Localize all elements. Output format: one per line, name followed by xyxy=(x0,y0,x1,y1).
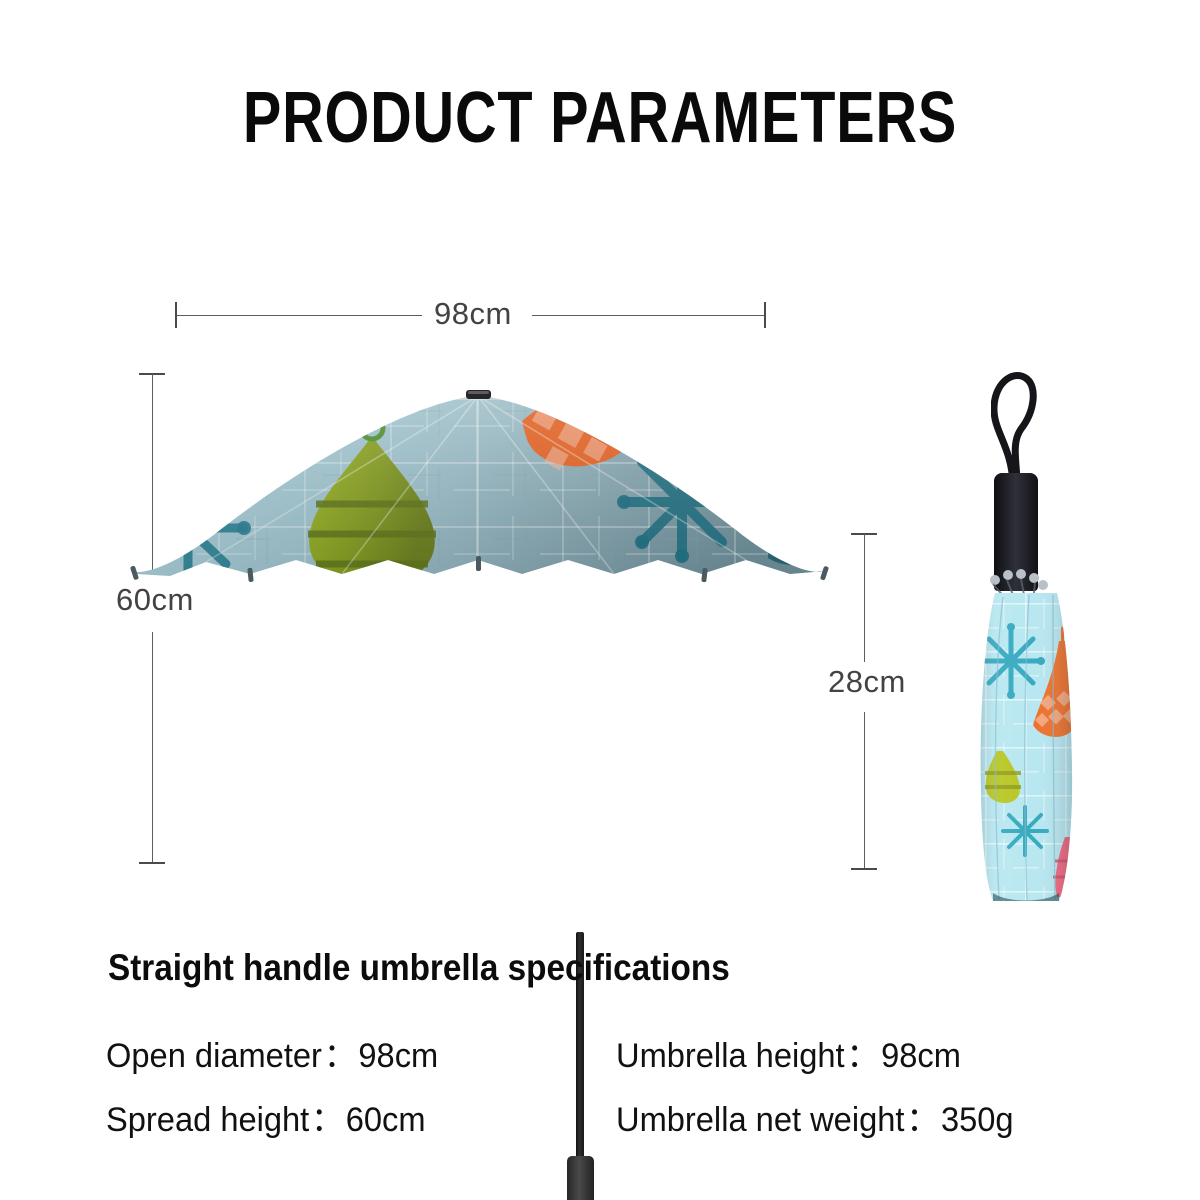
spec-umbrella-height: Umbrella height：98cm xyxy=(616,1028,961,1077)
wrist-strap-icon xyxy=(991,367,1037,485)
folded-height-line-bottom xyxy=(864,712,865,870)
spec-separator: ： xyxy=(309,1101,345,1139)
spec-open-diameter-value: 98cm xyxy=(358,1037,438,1075)
umbrella-handle-grip xyxy=(567,1156,594,1200)
spec-spread-height-label: Spread height xyxy=(106,1101,309,1139)
width-dimension-label: 98cm xyxy=(434,296,512,332)
product-parameters-page: PRODUCT PARAMETERS 98cm 60cm 28cm xyxy=(0,0,1200,1200)
open-umbrella-graphic xyxy=(110,380,850,850)
spec-net-weight: Umbrella net weight：350g xyxy=(616,1092,1014,1141)
folded-umbrella xyxy=(955,365,1105,910)
spec-open-diameter: Open diameter：98cm xyxy=(106,1028,438,1077)
open-umbrella xyxy=(110,380,850,850)
spec-umbrella-height-label: Umbrella height xyxy=(616,1037,845,1075)
spec-net-weight-value: 350g xyxy=(941,1101,1014,1139)
width-dimension-line-left xyxy=(177,315,422,316)
canopy-ferrule xyxy=(466,390,491,399)
spec-separator: ： xyxy=(322,1037,358,1075)
folded-height-line-top xyxy=(864,534,865,662)
folded-canopy xyxy=(973,593,1081,903)
folded-height-cap-bottom xyxy=(851,868,877,870)
spec-separator: ： xyxy=(904,1101,940,1139)
spec-net-weight-label: Umbrella net weight xyxy=(616,1101,904,1139)
page-title: PRODUCT PARAMETERS xyxy=(120,82,1080,154)
spec-spread-height: Spread height：60cm xyxy=(106,1092,426,1141)
spec-heading: Straight handle umbrella specifications xyxy=(108,947,730,989)
width-dimension-cap-right xyxy=(764,302,766,328)
spec-umbrella-height-value: 98cm xyxy=(881,1037,961,1075)
open-height-cap-bottom xyxy=(139,862,165,864)
spec-open-diameter-label: Open diameter xyxy=(106,1037,322,1075)
width-dimension-line-right xyxy=(532,315,765,316)
spec-spread-height-value: 60cm xyxy=(346,1101,426,1139)
spec-separator: ： xyxy=(845,1037,881,1075)
